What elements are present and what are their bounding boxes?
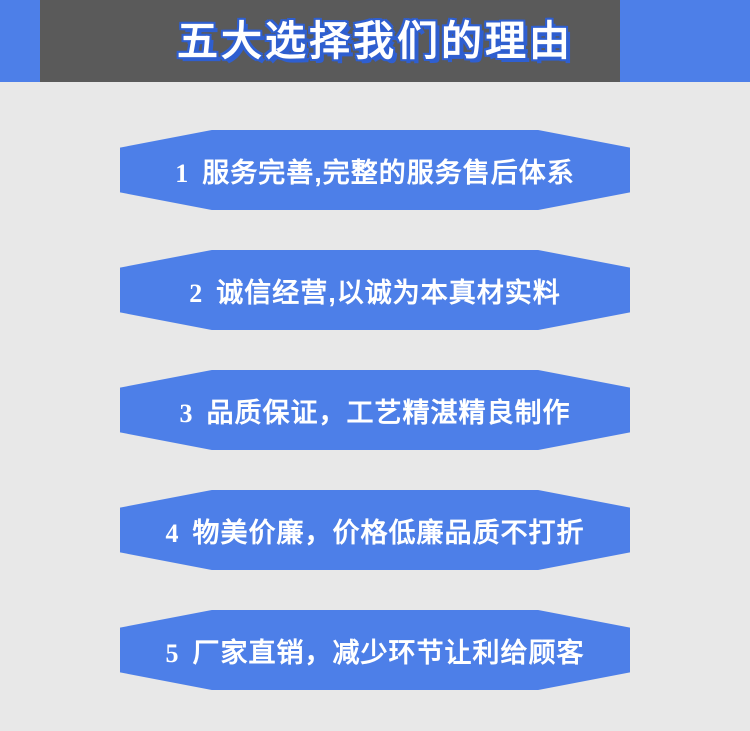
- list-item: 4 物美价廉，价格低廉品质不打折: [0, 470, 750, 590]
- reason-number-5: 5: [166, 639, 179, 669]
- promo-poster: 五大选择我们的理由 1 服务完善,完整的服务售后体系 2 诚信经营,以诚为本真材…: [0, 0, 750, 731]
- reason-banner-4: 4 物美价廉，价格低廉品质不打折: [120, 490, 630, 570]
- list-item: 3 品质保证，工艺精湛精良制作: [0, 350, 750, 470]
- reason-banner-3: 3 品质保证，工艺精湛精良制作: [120, 370, 630, 450]
- list-item: 1 服务完善,完整的服务售后体系: [0, 110, 750, 230]
- reason-banner-2: 2 诚信经营,以诚为本真材实料: [120, 250, 630, 330]
- reason-list: 1 服务完善,完整的服务售后体系 2 诚信经营,以诚为本真材实料 3 品质保证，…: [0, 82, 750, 710]
- reason-text-2: 诚信经营,以诚为本真材实料: [216, 271, 561, 310]
- reason-text-5: 厂家直销，减少环节让利给顾客: [193, 631, 585, 670]
- reason-banner-content-1: 1 服务完善,完整的服务售后体系: [175, 151, 575, 190]
- list-item: 5 厂家直销，减少环节让利给顾客: [0, 590, 750, 710]
- reason-text-1: 服务完善,完整的服务售后体系: [202, 151, 575, 190]
- reason-banner-content-4: 4 物美价廉，价格低廉品质不打折: [166, 511, 585, 550]
- reason-banner-5: 5 厂家直销，减少环节让利给顾客: [120, 610, 630, 690]
- reason-number-1: 1: [175, 159, 188, 189]
- reason-text-3: 品质保证，工艺精湛精良制作: [207, 391, 571, 430]
- reason-number-2: 2: [189, 279, 202, 309]
- reason-banner-content-2: 2 诚信经营,以诚为本真材实料: [189, 271, 561, 310]
- reason-text-4: 物美价廉，价格低廉品质不打折: [193, 511, 585, 550]
- poster-header: 五大选择我们的理由: [0, 0, 750, 82]
- reason-banner-content-3: 3 品质保证，工艺精湛精良制作: [180, 391, 571, 430]
- reason-banner-1: 1 服务完善,完整的服务售后体系: [120, 130, 630, 210]
- reason-banner-content-5: 5 厂家直销，减少环节让利给顾客: [166, 631, 585, 670]
- page-title: 五大选择我们的理由: [0, 0, 750, 82]
- list-item: 2 诚信经营,以诚为本真材实料: [0, 230, 750, 350]
- reason-number-4: 4: [166, 519, 179, 549]
- reason-number-3: 3: [180, 399, 193, 429]
